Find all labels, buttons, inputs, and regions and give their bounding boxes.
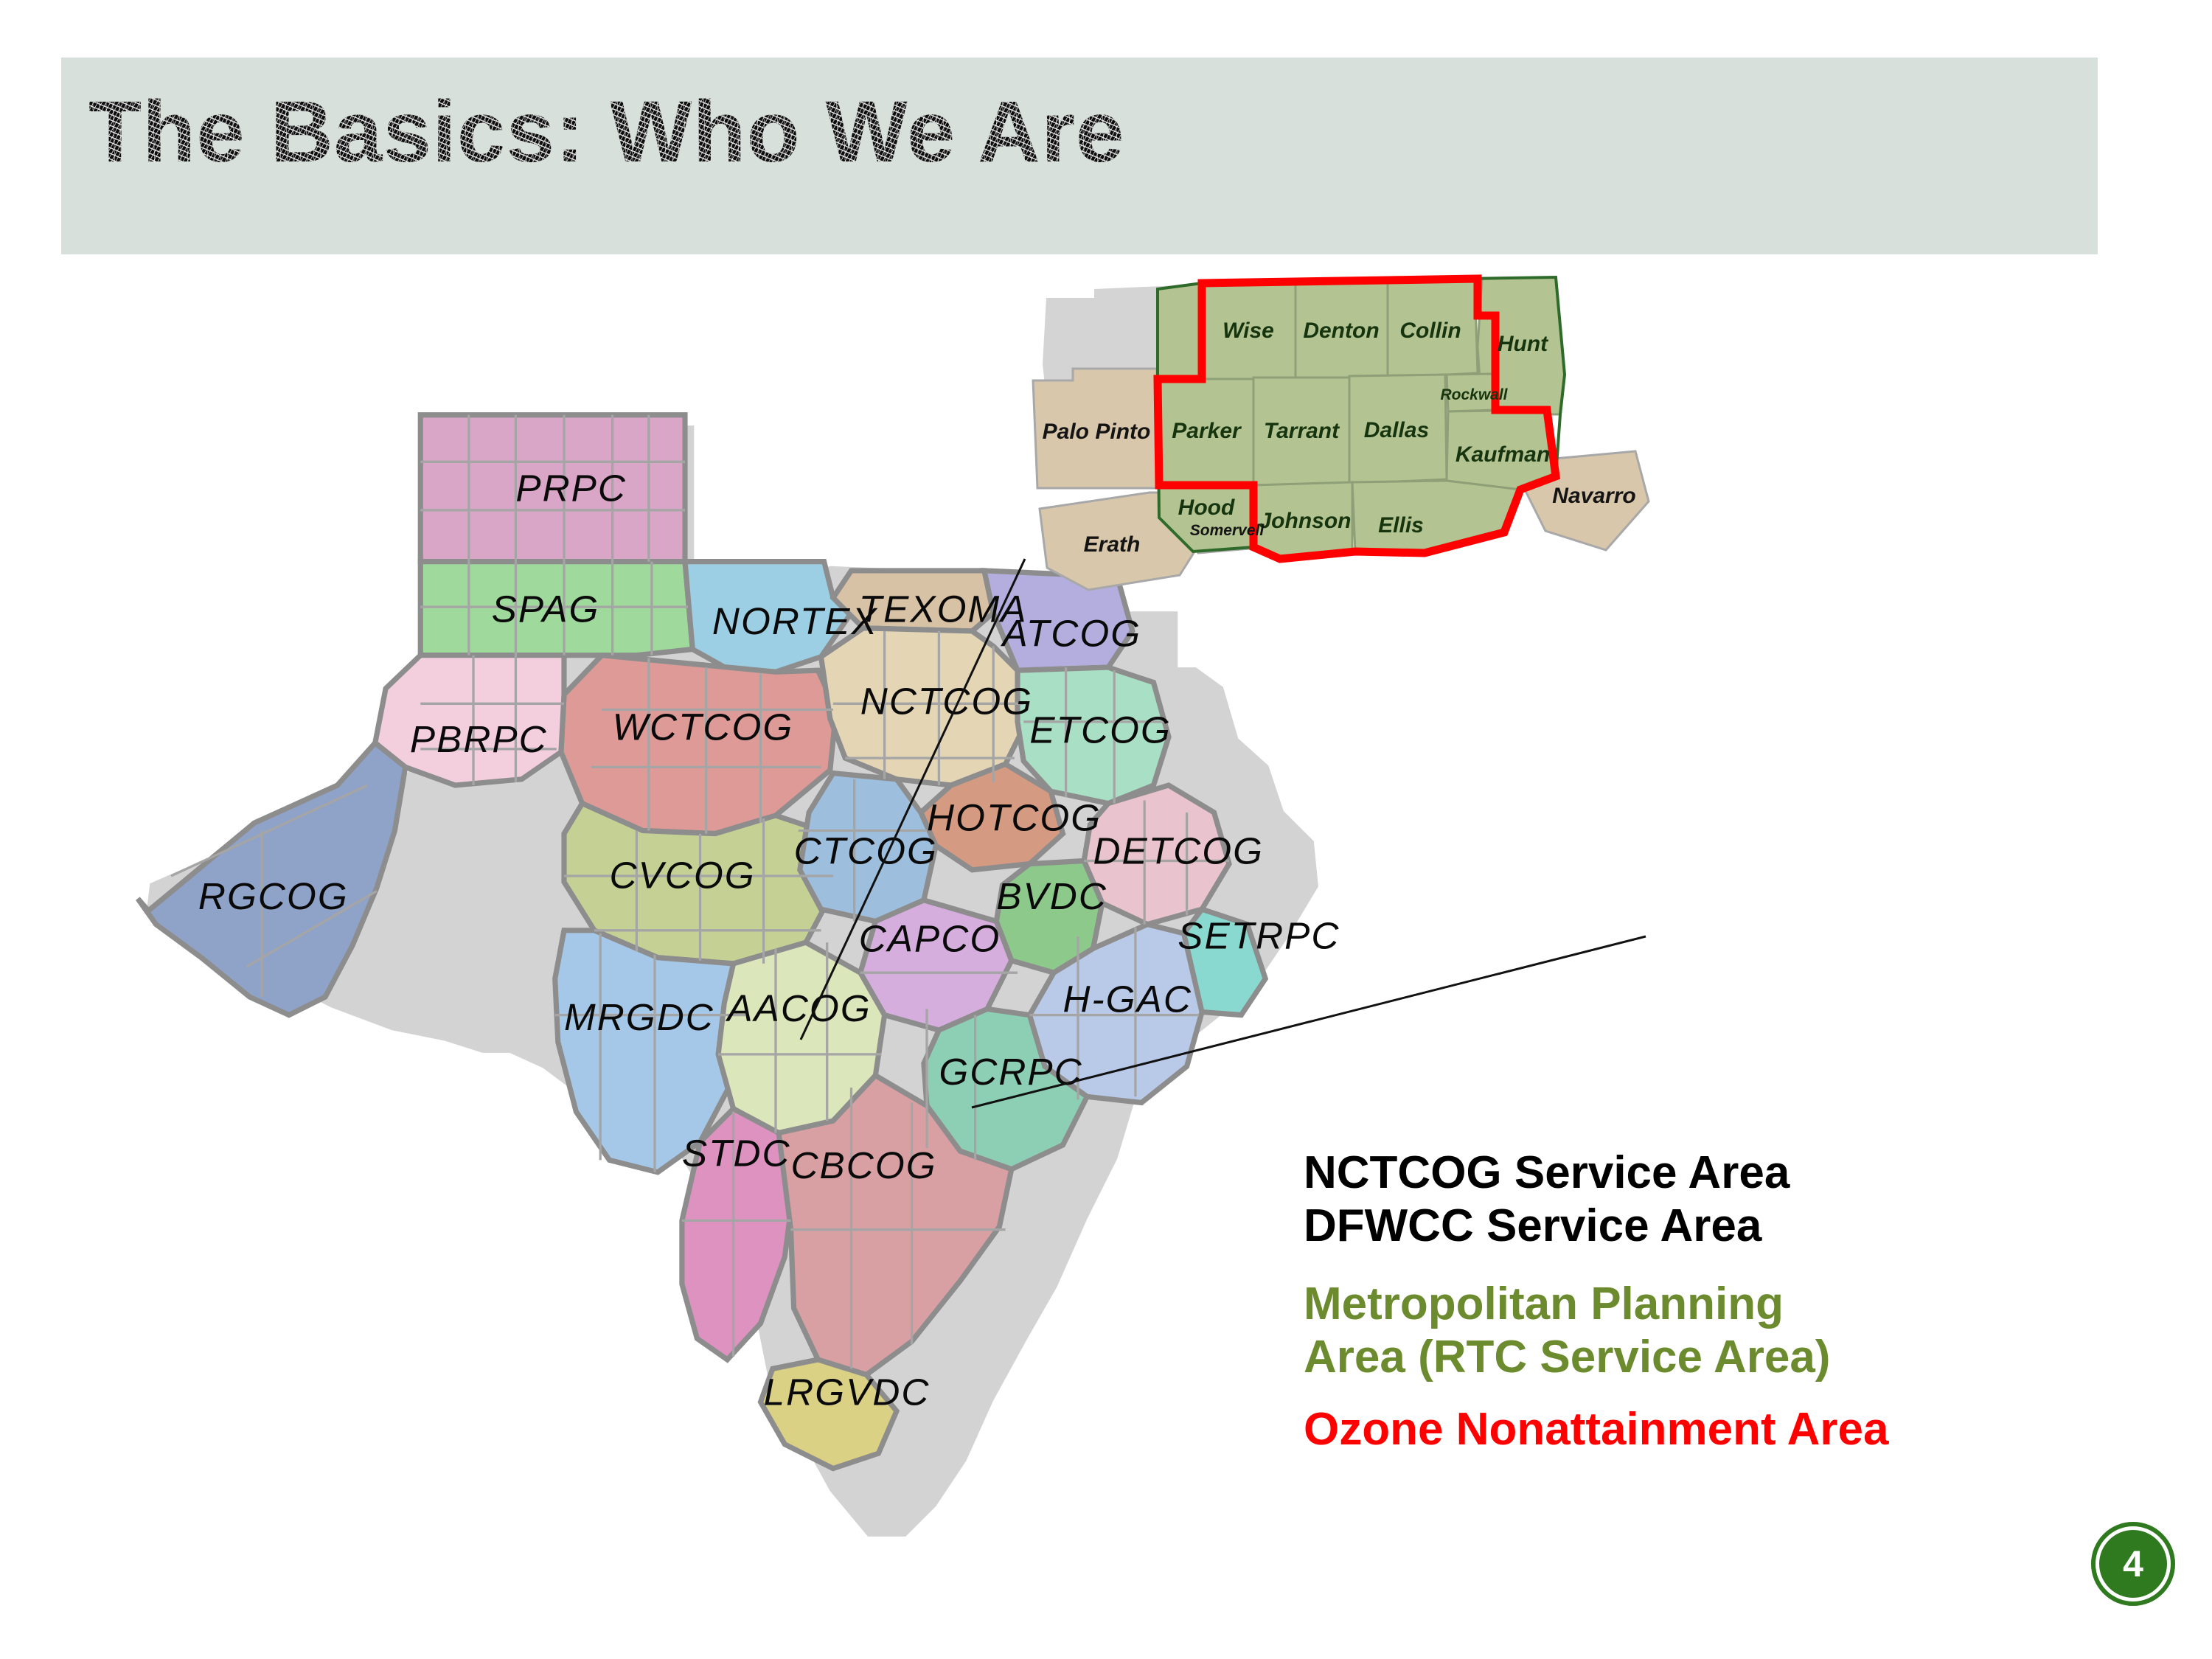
county-label-parker: Parker	[1172, 419, 1242, 443]
page-number-text: 4	[2123, 1545, 2143, 1582]
region-label-stdc: STDC	[682, 1133, 791, 1175]
county-label-hunt: Hunt	[1498, 332, 1549, 356]
region-label-aacog: AACOG	[725, 987, 871, 1029]
region-label-prpc: PRPC	[515, 467, 627, 509]
region-label-detcog: DETCOG	[1093, 830, 1265, 872]
region-label-pbrpc: PBRPC	[410, 718, 548, 760]
county-label-denton: Denton	[1303, 319, 1379, 343]
region-label-mrgdc: MRGDC	[564, 996, 714, 1038]
county-label-erath: Erath	[1084, 532, 1141, 557]
county-label-navarro: Navarro	[1552, 484, 1635, 508]
county-label-palo-pinto: Palo Pinto	[1043, 420, 1151, 444]
texas-cog-regions-map: PRPC SPAG NORTEX TEXOMA ATCOG WCTCOG NCT…	[138, 415, 1340, 1537]
county-label-hood: Hood	[1178, 495, 1235, 520]
county-label-dallas: Dallas	[1364, 418, 1429, 442]
dfw-county-inset-map: Wise Denton Collin Hunt Palo Pinto Parke…	[1033, 276, 1649, 590]
county-label-collin: Collin	[1399, 319, 1461, 343]
region-label-cvcog: CVCOG	[610, 854, 756, 896]
page-title: The Basics: Who We Are	[88, 87, 1932, 178]
county-label-tarrant: Tarrant	[1264, 419, 1340, 443]
county-label-somervell: Somervell	[1190, 522, 1265, 539]
region-label-rgcog: RGCOG	[198, 875, 349, 917]
region-label-atcog: ATCOG	[1001, 612, 1142, 654]
legend-group-red: Ozone Nonattainment Area	[1304, 1403, 2078, 1456]
region-label-nctcog: NCTCOG	[860, 681, 1033, 723]
region-label-bvdc: BVDC	[996, 875, 1107, 917]
region-label-wctcog: WCTCOG	[613, 706, 794, 748]
page-number-badge: 4	[2091, 1522, 2175, 1606]
county-label-ellis: Ellis	[1378, 513, 1424, 538]
region-label-lrgvdc: LRGVDC	[764, 1371, 931, 1413]
legend-group-green: Metropolitan Planning Area (RTC Service …	[1304, 1278, 2078, 1384]
region-label-hgac: H-GAC	[1063, 978, 1192, 1020]
region-label-gcrpc: GCRPC	[939, 1051, 1082, 1093]
legend-ozone-nonattainment-area: Ozone Nonattainment Area	[1304, 1403, 2078, 1456]
legend-nctcog-service-area: NCTCOG Service Area	[1304, 1147, 2078, 1200]
county-label-johnson: Johnson	[1259, 509, 1352, 533]
region-label-ctcog: CTCOG	[794, 830, 938, 872]
region-label-nortex: NORTEX	[712, 600, 878, 642]
county-label-rockwall: Rockwall	[1440, 386, 1508, 403]
legend-group-black: NCTCOG Service Area DFWCC Service Area	[1304, 1147, 2078, 1253]
region-label-spag: SPAG	[492, 588, 600, 630]
county-label-kaufman: Kaufman	[1455, 442, 1550, 467]
map-legend: NCTCOG Service Area DFWCC Service Area M…	[1304, 1147, 2078, 1456]
legend-mpa-line-2: Area (RTC Service Area)	[1304, 1331, 2078, 1384]
region-label-setrpc: SETRPC	[1178, 914, 1340, 956]
region-label-capco: CAPCO	[859, 918, 1001, 960]
county-label-wise: Wise	[1222, 319, 1274, 343]
region-label-cbcog: CBCOG	[791, 1144, 937, 1186]
legend-mpa-line-1: Metropolitan Planning	[1304, 1278, 2078, 1331]
region-label-etcog: ETCOG	[1029, 709, 1171, 751]
region-label-hotcog: HOTCOG	[927, 797, 1102, 839]
legend-dfwcc-service-area: DFWCC Service Area	[1304, 1200, 2078, 1253]
